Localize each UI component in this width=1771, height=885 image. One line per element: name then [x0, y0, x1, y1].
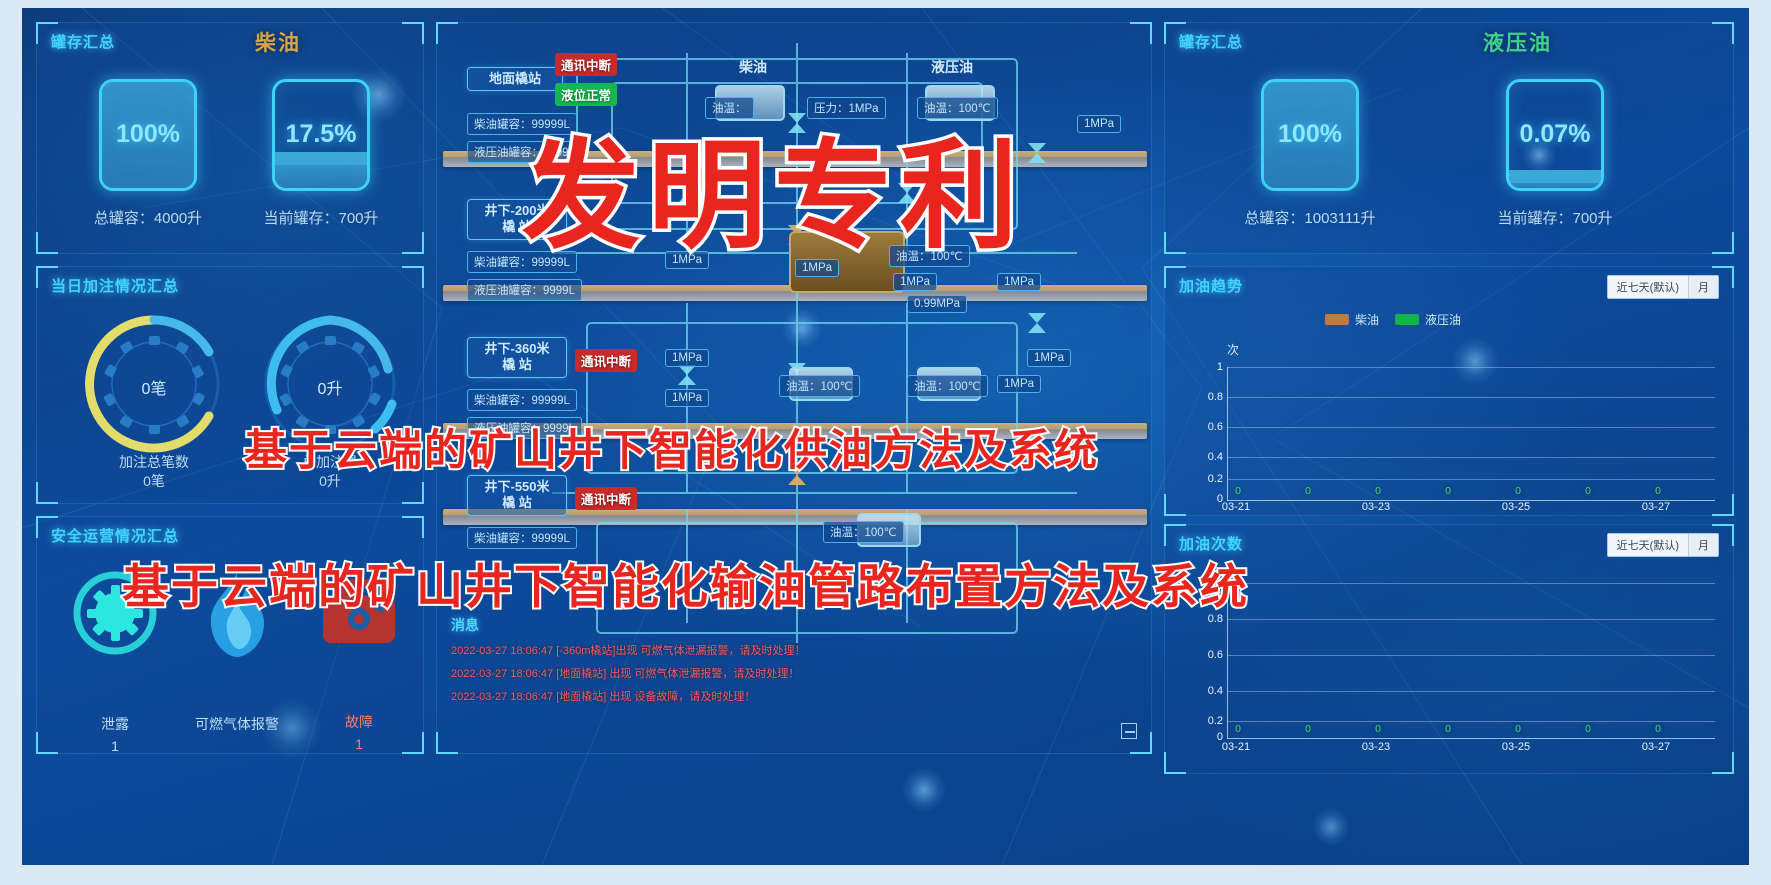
readout-oil-temp-2: 油温：100℃ [917, 97, 998, 119]
toolbox-icon [313, 567, 405, 659]
safety-count-leak: 1 [55, 738, 175, 754]
readout-oil-temp-3: 油温：100℃ [889, 245, 970, 267]
ytick-label: 0.4 [1193, 685, 1223, 697]
point-label: 0 [1509, 485, 1527, 497]
range-option-seven-days-count[interactable]: 近七天(默认) [1608, 534, 1688, 556]
panel-left-daily-fill: 当日加注情况汇总 0 [36, 266, 424, 504]
gauge-fill-volume: 0升 [255, 309, 405, 459]
safety-item-leak: 泄露 1 [55, 567, 175, 754]
flame-icon [191, 567, 283, 663]
station-tag-hydraulic-capacity-minus360: 液压油罐容：9999L [467, 417, 582, 439]
panel-title-refuel-count: 加油次数 [1179, 533, 1243, 554]
xtick-label: 03-21 [1213, 741, 1259, 753]
legend-swatch-hydraulic [1395, 314, 1419, 325]
panel-title-daily-fill: 当日加注情况汇总 [51, 275, 179, 296]
readout-pressure-2: 1MPa [665, 251, 709, 269]
point-label: 0 [1299, 485, 1317, 497]
tank-percent-current-hydraulic: 0.07% [1509, 120, 1601, 149]
readout-oil-temp: 油温： [705, 97, 754, 119]
corner-decoration [1712, 22, 1734, 44]
ytick-label: 0.8 [1193, 391, 1223, 403]
gauge-caption-line1: 加注总笔数 [79, 453, 229, 472]
legend-label-diesel: 柴油 [1355, 311, 1379, 328]
ytick-label: 1 [1193, 577, 1223, 589]
tank-card-current-hydraulic: 0.07% 当前罐存：700升 [1465, 79, 1645, 228]
bokeh-dot [1312, 808, 1350, 846]
safety-count-fault: 1 [299, 736, 419, 752]
gauge-value-fill-volume: 0升 [255, 375, 405, 399]
station-label-minus550[interactable]: 井下-550米 橇 站 [467, 475, 567, 516]
product-label-diesel: 柴油 [255, 27, 301, 57]
gridline [1227, 479, 1715, 480]
xtick-label: 03-25 [1493, 741, 1539, 753]
station-tag-diesel-capacity-surface: 柴油罐容：99999L [467, 113, 577, 135]
xtick-label: 03-21 [1213, 501, 1259, 513]
dashboard-screen: 罐存汇总 柴油 100% 总罐容：4000升 17.5% 当前罐存：700升 当… [22, 8, 1749, 865]
safety-label-gas-alarm: 可燃气体报警 [177, 714, 297, 734]
status-badge-comm-interrupt-surface: 通讯中断 [555, 53, 617, 76]
corner-decoration [1164, 232, 1186, 254]
panel-refuel-trend-chart: 加油趋势 近七天(默认) 月 柴油 液压油 次 1 0.8 0.6 0.4 0.… [1164, 266, 1734, 516]
readout-pressure-7: 1MPa [1027, 349, 1071, 367]
readout-pressure-3: 1MPa [795, 259, 839, 277]
status-badge-comm-interrupt-minus360: 通讯中断 [575, 349, 637, 372]
safety-item-fault: 故障 1 [299, 567, 419, 752]
xtick-label: 03-27 [1633, 501, 1679, 513]
panel-center-scada: 地面橇站 通讯中断 液位正常 柴油罐容：99999L 液压油罐容：9999L 井… [436, 22, 1152, 754]
process-label-hydraulic: 液压油 [931, 57, 973, 77]
gauge-caption-line1: 总加注量 [255, 453, 405, 472]
gas-sensor-icon [69, 567, 161, 659]
point-label: 0 [1439, 485, 1457, 497]
panel-title-tank-summary-left: 罐存汇总 [51, 31, 115, 52]
readout-pressure-5: 1MPa [997, 273, 1041, 291]
bokeh-dot [902, 768, 946, 812]
tank-card-current-diesel: 17.5% 当前罐存：700升 [241, 79, 401, 228]
range-toggle-trend[interactable]: 近七天(默认) 月 [1607, 275, 1719, 299]
range-option-month[interactable]: 月 [1688, 276, 1718, 298]
gridline [1227, 619, 1715, 620]
status-badge-comm-interrupt-minus550: 通讯中断 [575, 487, 637, 510]
station-label-minus200[interactable]: 井下-200米 橇 站 [467, 199, 567, 240]
gridline [1227, 397, 1715, 398]
panel-left-tank-summary: 罐存汇总 柴油 100% 总罐容：4000升 17.5% 当前罐存：700升 [36, 22, 424, 254]
gridline [1227, 583, 1715, 584]
corner-decoration [402, 266, 424, 288]
station-tag-diesel-capacity-minus200: 柴油罐容：99999L [467, 251, 577, 273]
legend-label-hydraulic: 液压油 [1425, 311, 1461, 328]
corner-decoration [402, 482, 424, 504]
point-label: 0 [1649, 723, 1667, 735]
readout-oil-temp-5: 油温：100℃ [907, 375, 988, 397]
point-label: 0 [1369, 485, 1387, 497]
safety-label-fault: 故障 [299, 712, 419, 732]
ytick-label: 0.6 [1193, 421, 1223, 433]
tank-current-stock-label-right: 当前罐存：700升 [1465, 207, 1645, 228]
xtick-label: 03-25 [1493, 501, 1539, 513]
panel-refuel-count-chart: 加油次数 近七天(默认) 月 1 0.8 0.6 0.4 0.2 0 0 0 0… [1164, 524, 1734, 774]
tank-graphic-total-hydraulic: 100% [1261, 79, 1359, 191]
point-label: 0 [1439, 723, 1457, 735]
gridline [1227, 721, 1715, 722]
chart-ylabel-trend: 次 [1227, 341, 1239, 358]
tank-graphic-total-diesel: 100% [99, 79, 197, 191]
readout-pressure-8: 1MPa [665, 389, 709, 407]
tank-card-total-hydraulic: 100% 总罐容：1003111升 [1215, 79, 1405, 228]
gauge-caption-fill-volume: 总加注量 0升 [255, 453, 405, 491]
gauge-fill-count: 0笔 [79, 309, 229, 459]
readout-pressure-6: 1MPa [665, 349, 709, 367]
legend-item-hydraulic[interactable]: 液压油 [1395, 311, 1461, 328]
gridline [1227, 427, 1715, 428]
gauge-value-fill-count: 0笔 [79, 375, 229, 399]
chart-yaxis [1227, 367, 1228, 501]
readout-pressure-1: 1MPa [1077, 115, 1121, 133]
message-log-line: 2022-03-27 18:06:47 [-360m橇站]出现 可燃气体泄漏报警… [451, 642, 1141, 658]
tank-percent-total-hydraulic: 100% [1264, 120, 1356, 149]
point-label: 0 [1509, 723, 1527, 735]
gridline [1227, 655, 1715, 656]
tank-card-total-diesel: 100% 总罐容：4000升 [73, 79, 223, 228]
point-label: 0 [1649, 485, 1667, 497]
point-label: 0 [1229, 723, 1247, 735]
status-badge-level-normal-surface: 液位正常 [555, 83, 617, 106]
corner-decoration [1164, 752, 1186, 774]
message-log-line: 2022-03-27 18:06:47 [地面橇站] 出现 设备故障，请及时处理… [451, 688, 1141, 704]
chart-legend-trend: 柴油 液压油 [1325, 311, 1461, 328]
corner-decoration [402, 22, 424, 44]
product-label-hydraulic: 液压油 [1483, 27, 1552, 57]
xtick-label: 03-27 [1633, 741, 1679, 753]
tank-current-stock-label: 当前罐存：700升 [241, 207, 401, 228]
station-tag-hydraulic-capacity-surface: 液压油罐容：9999L [467, 141, 582, 163]
panel-title-refuel-trend: 加油趋势 [1179, 275, 1243, 296]
point-label: 0 [1299, 723, 1317, 735]
tank-total-capacity-label-right: 总罐容：1003111升 [1215, 207, 1405, 228]
legend-item-diesel[interactable]: 柴油 [1325, 311, 1379, 328]
gridline [1227, 367, 1715, 368]
xtick-label: 03-23 [1353, 741, 1399, 753]
station-tag-hydraulic-capacity-minus200: 液压油罐容：9999L [467, 279, 582, 301]
chart-yaxis-count [1227, 575, 1228, 739]
panel-title-tank-summary-right: 罐存汇总 [1179, 31, 1243, 52]
readout-pressure: 压力：1MPa [807, 97, 886, 119]
tank-graphic-current-hydraulic: 0.07% [1506, 79, 1604, 191]
point-label: 0 [1579, 485, 1597, 497]
gauge-caption-fill-count: 加注总笔数 0笔 [79, 453, 229, 491]
readout-oil-temp-4: 油温：100℃ [779, 375, 860, 397]
tank-graphic-current-diesel: 17.5% [272, 79, 370, 191]
gridline [1227, 457, 1715, 458]
gridline [1227, 691, 1715, 692]
corner-decoration [1712, 752, 1734, 774]
range-toggle-count[interactable]: 近七天(默认) 月 [1607, 533, 1719, 557]
gauge-caption-line2: 0升 [255, 472, 405, 491]
range-option-month-count[interactable]: 月 [1688, 534, 1718, 556]
corner-decoration [402, 232, 424, 254]
gauge-caption-line2: 0笔 [79, 472, 229, 491]
message-log-line: 2022-03-27 18:06:47 [地面橇站] 出现 可燃气体泄漏报警，请… [451, 665, 1141, 681]
ytick-label: 0.4 [1193, 451, 1223, 463]
corner-decoration [402, 516, 424, 538]
tank-fill [275, 163, 367, 188]
point-label: 0 [1579, 723, 1597, 735]
point-label: 0 [1369, 723, 1387, 735]
station-tag-diesel-capacity-minus360: 柴油罐容：99999L [467, 389, 577, 411]
ytick-label: 0.6 [1193, 649, 1223, 661]
tank-percent-current-diesel: 17.5% [275, 120, 367, 149]
panel-title-safety: 安全运营情况汇总 [51, 525, 179, 546]
ytick-label: 1 [1193, 361, 1223, 373]
corner-decoration [36, 232, 58, 254]
readout-oil-temp-6: 油温：100℃ [823, 521, 904, 543]
panel-left-safety: 安全运营情况汇总 泄露 1 [36, 516, 424, 754]
corner-decoration [1712, 494, 1734, 516]
ytick-label: 0.2 [1193, 715, 1223, 727]
message-log-title: 消息 [451, 615, 1141, 635]
ytick-label: 0.2 [1193, 473, 1223, 485]
safety-item-gas-alarm: 可燃气体报警 [177, 567, 297, 738]
station-label-minus360[interactable]: 井下-360米 橇 站 [467, 337, 567, 378]
point-label: 0 [1229, 485, 1247, 497]
safety-label-leak: 泄露 [55, 714, 175, 734]
corner-decoration [36, 482, 58, 504]
process-label-diesel: 柴油 [739, 57, 767, 77]
tank-total-capacity-label: 总罐容：4000升 [73, 207, 223, 228]
readout-pressure-low: 0.99MPa [907, 295, 967, 313]
station-label-surface[interactable]: 地面橇站 [467, 67, 563, 91]
message-log-panel: 消息 2022-03-27 18:06:47 [-360m橇站]出现 可燃气体泄… [451, 615, 1141, 735]
screenshot-root: 罐存汇总 柴油 100% 总罐容：4000升 17.5% 当前罐存：700升 当… [0, 0, 1771, 885]
station-tag-diesel-capacity-minus550: 柴油罐容：99999L [467, 527, 577, 549]
minimize-icon[interactable] [1121, 723, 1137, 739]
tank-wave [272, 152, 370, 165]
readout-pressure-9: 1MPa [997, 375, 1041, 393]
xtick-label: 03-23 [1353, 501, 1399, 513]
panel-right-tank-summary: 罐存汇总 液压油 100% 总罐容：1003111升 0.07% 当前罐存：70… [1164, 22, 1734, 254]
ytick-label: 0.8 [1193, 613, 1223, 625]
readout-pressure-4: 1MPa [893, 273, 937, 291]
corner-decoration [1712, 232, 1734, 254]
corner-decoration [1164, 494, 1186, 516]
tank-percent-total-diesel: 100% [102, 120, 194, 149]
chart-xaxis-count [1227, 738, 1715, 739]
legend-swatch-diesel [1325, 314, 1349, 325]
tank-wave [1506, 170, 1604, 183]
range-option-seven-days[interactable]: 近七天(默认) [1608, 276, 1688, 298]
